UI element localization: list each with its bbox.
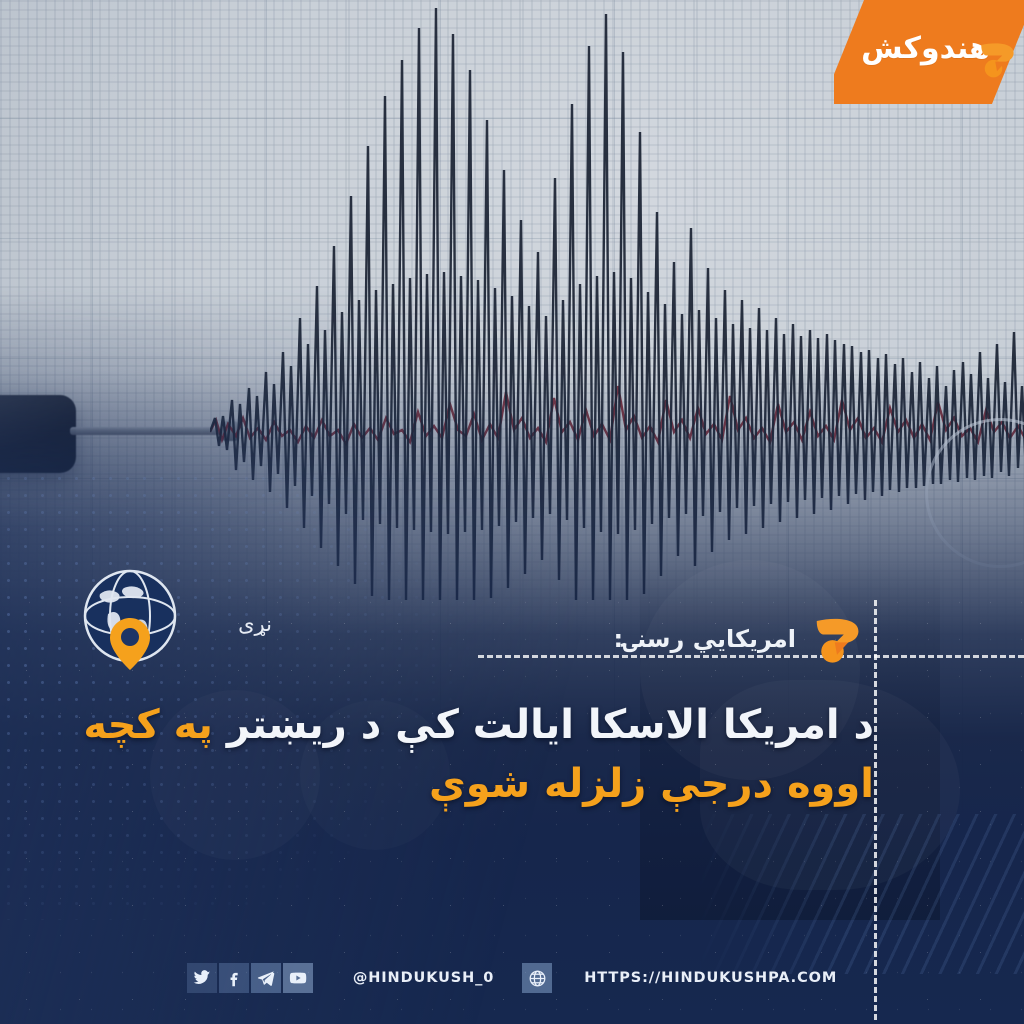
- headline-line-1-orange: په کچه: [83, 702, 213, 748]
- location-pin-icon: [110, 618, 150, 670]
- logo-wordmark: هندوکش: [861, 34, 990, 64]
- facebook-icon[interactable]: [219, 963, 249, 993]
- headline-line-2: اووه درجې زلزله شوې: [84, 755, 874, 814]
- headline-line-1-white: د امریکا الاسکا ایالت کې د ریښتر: [227, 702, 874, 748]
- social-handle: @HINDUKUSH_0: [353, 970, 494, 986]
- footer-bar: @HINDUKUSH_0 HTTPS://HINDUKUSHPA.COM: [0, 932, 1024, 1024]
- headline-line-2-orange: اووه درجې زلزله شوې: [429, 761, 874, 807]
- globe-icon: [72, 562, 192, 682]
- globe-icon: [522, 963, 552, 993]
- brand-swoosh-mark-icon: [810, 612, 864, 666]
- location-label: نړی: [238, 612, 272, 636]
- twitter-icon[interactable]: [187, 963, 217, 993]
- website-url: HTTPS://HINDUKUSHPA.COM: [584, 970, 837, 986]
- hindukush-swoosh-mark-icon: [976, 38, 1018, 80]
- news-graphic-card: هندوکش نړی: [0, 0, 1024, 1024]
- headline: د امریکا الاسکا ایالت کې د ریښتر په کچه …: [84, 696, 874, 814]
- telegram-icon[interactable]: [251, 963, 281, 993]
- location-badge: نړی: [72, 562, 272, 682]
- brand-logo[interactable]: هندوکش: [834, 0, 1024, 104]
- stylus-body: [0, 395, 76, 473]
- social-icon-group: [187, 963, 313, 993]
- youtube-icon[interactable]: [283, 963, 313, 993]
- seismograph-photo-background: [0, 0, 1024, 1024]
- kicker-row: امریکایي رسنۍ:: [613, 612, 864, 666]
- headline-line-1: د امریکا الاسکا ایالت کې د ریښتر په کچه: [84, 696, 874, 755]
- stylus-arm: [70, 427, 230, 435]
- kicker-label: امریکایي رسنۍ:: [613, 625, 796, 653]
